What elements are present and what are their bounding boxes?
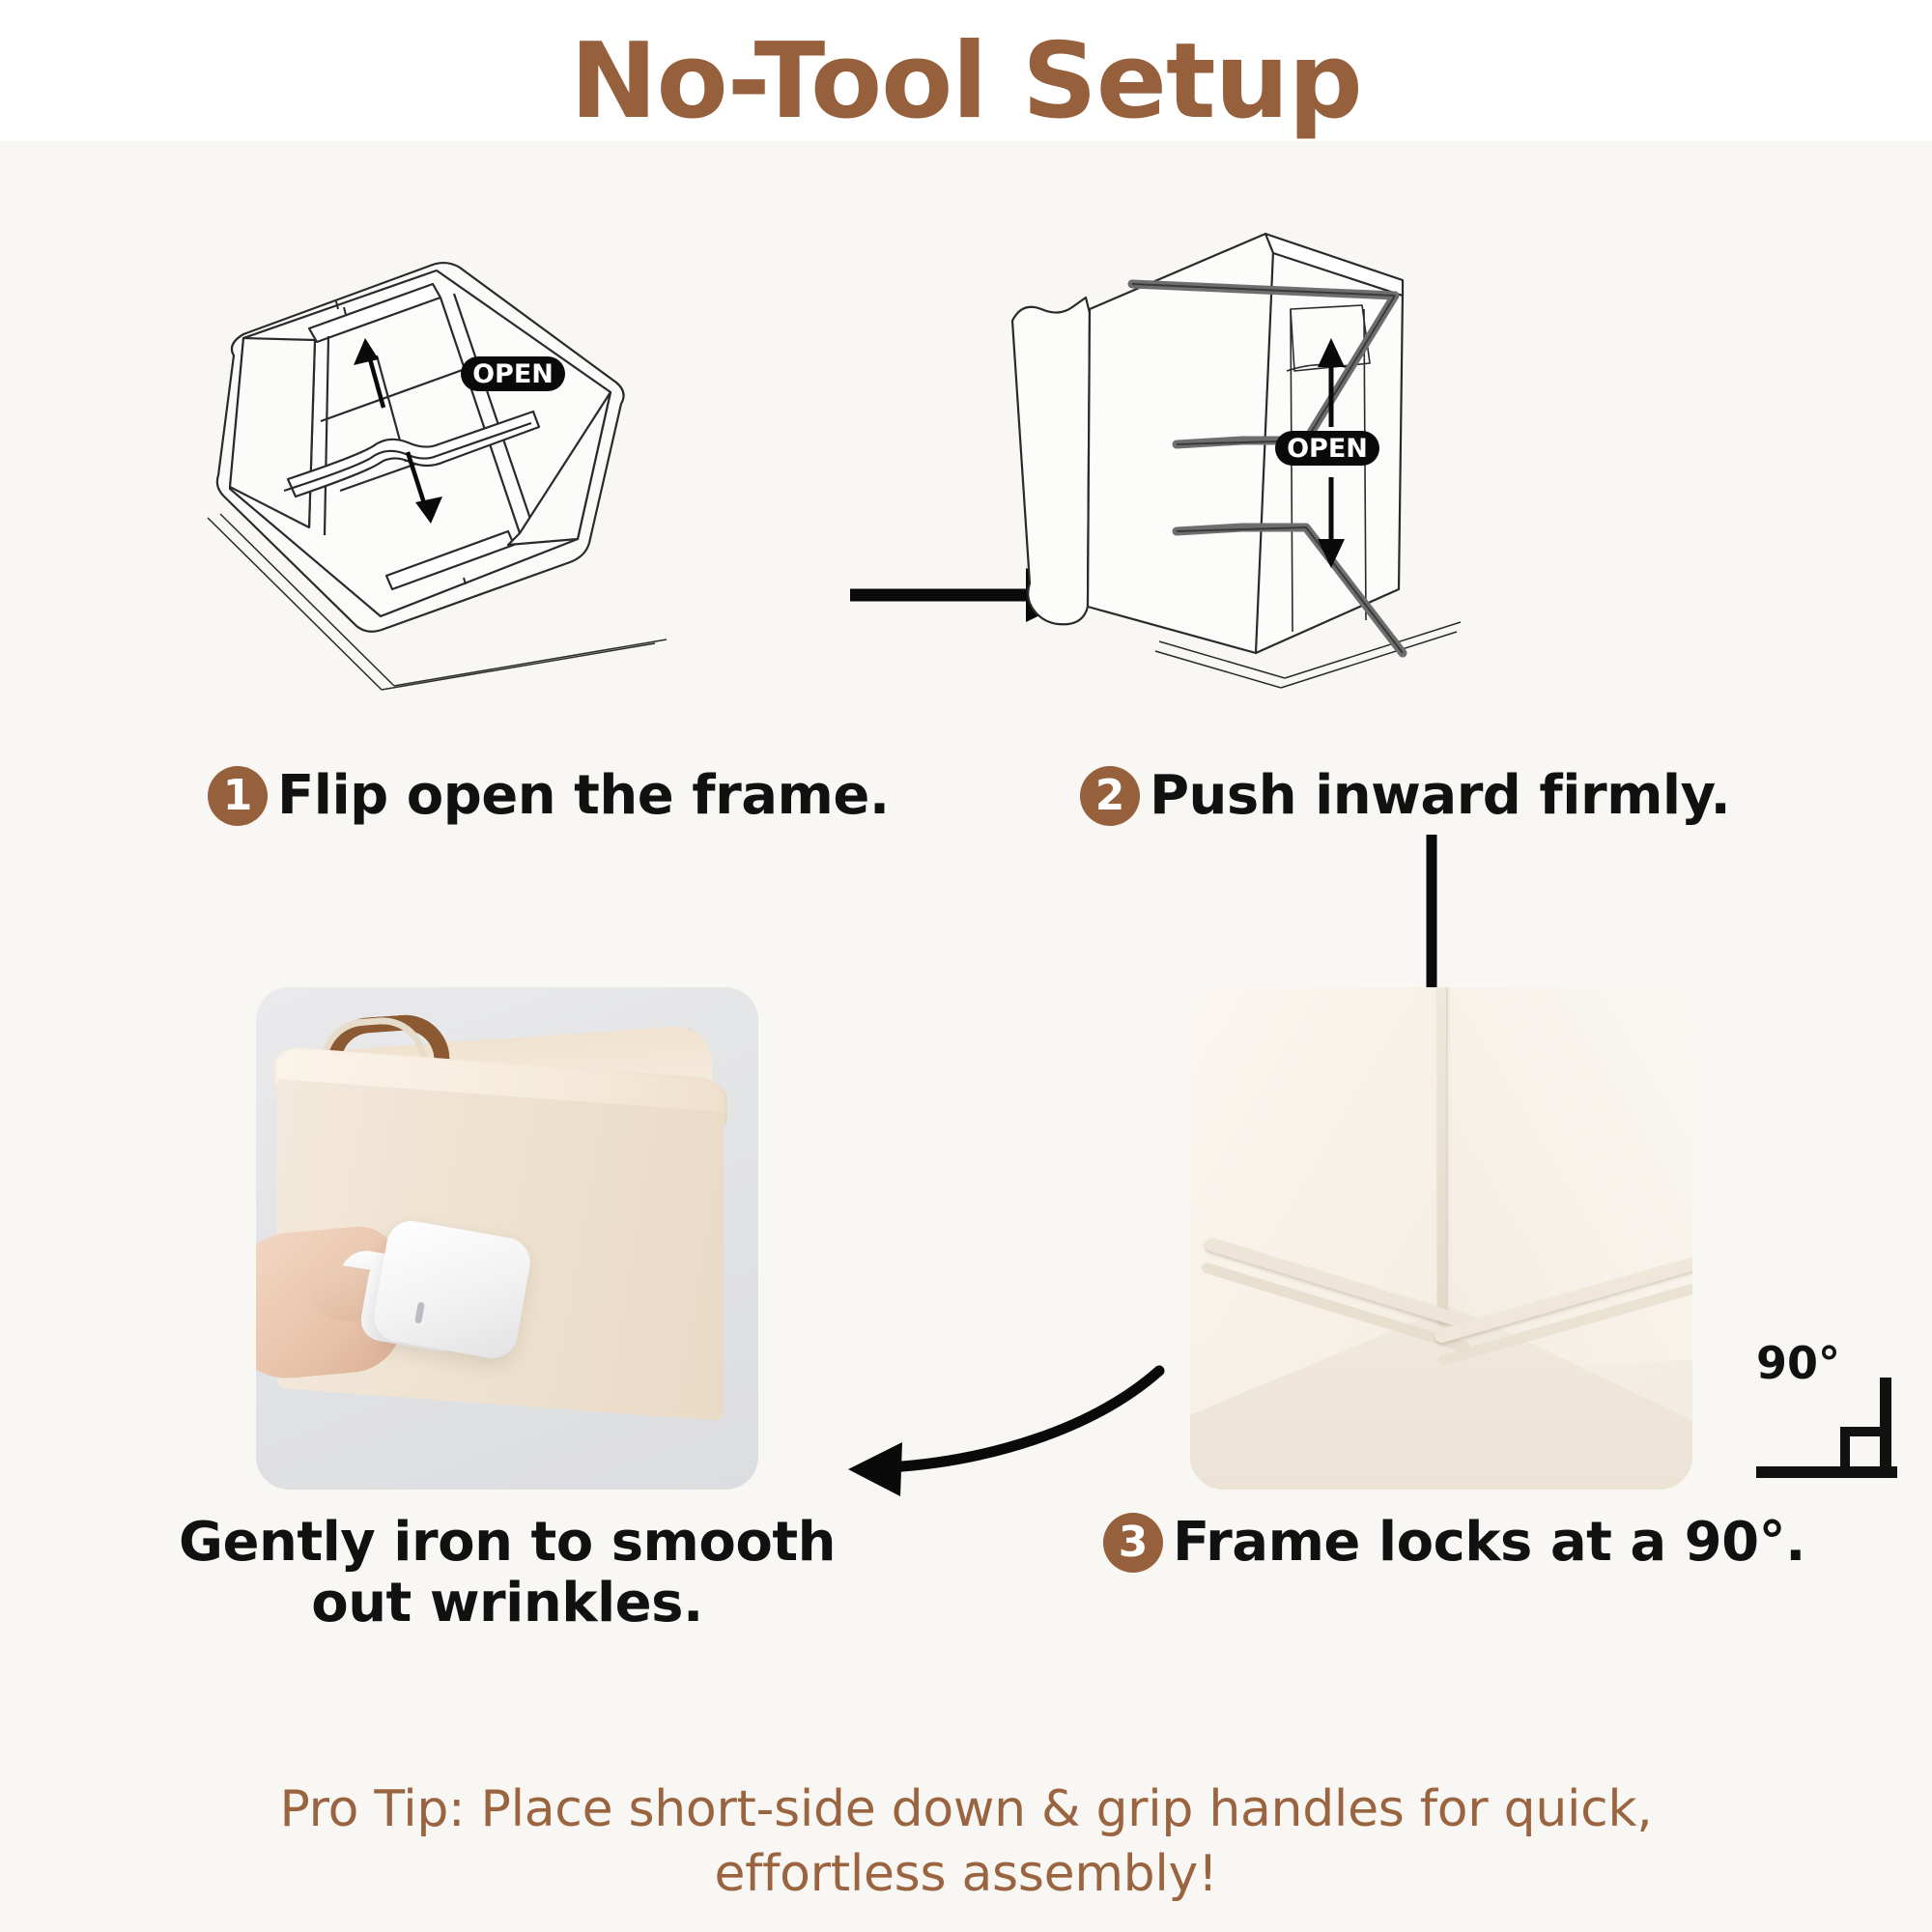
final-step-caption-line-2: out wrinkles. bbox=[126, 1574, 889, 1634]
step-2-caption-row: 2 Push inward firmly. bbox=[1080, 764, 1730, 827]
content-stage: OPEN bbox=[0, 141, 1932, 1932]
final-step-photo bbox=[256, 987, 758, 1490]
step-2-badge: 2 bbox=[1080, 766, 1140, 826]
step-2-illustration: OPEN bbox=[966, 216, 1468, 699]
fabric-panel-right bbox=[1449, 987, 1692, 1373]
final-step-caption: Gently iron to smooth out wrinkles. bbox=[126, 1513, 889, 1634]
step-1-caption-row: 1 Flip open the frame. bbox=[208, 764, 890, 827]
step-3-badge: 3 bbox=[1103, 1513, 1163, 1573]
final-step-caption-line-1: Gently iron to smooth bbox=[126, 1513, 889, 1574]
open-badge-1: OPEN bbox=[461, 356, 565, 391]
step-2-caption: Push inward firmly. bbox=[1150, 764, 1730, 827]
right-angle-icon bbox=[1756, 1378, 1911, 1498]
corner-seam bbox=[1437, 987, 1446, 1325]
svg-text:OPEN: OPEN bbox=[472, 359, 554, 389]
connector-curved-arrow-step3-final bbox=[773, 1353, 1179, 1527]
page-title: No-Tool Setup bbox=[0, 27, 1932, 136]
step-3-caption: Frame locks at a 90°. bbox=[1173, 1511, 1805, 1574]
pro-tip-line-1: Pro Tip: Place short-side down & grip ha… bbox=[116, 1777, 1816, 1842]
step-3-caption-row: 3 Frame locks at a 90°. bbox=[1103, 1511, 1805, 1574]
step-1-illustration: OPEN bbox=[174, 238, 676, 701]
step-1-caption: Flip open the frame. bbox=[277, 764, 890, 827]
step-1-badge: 1 bbox=[208, 766, 268, 826]
pro-tip: Pro Tip: Place short-side down & grip ha… bbox=[116, 1777, 1816, 1906]
step-3-photo bbox=[1190, 987, 1692, 1490]
pro-tip-line-2: effortless assembly! bbox=[116, 1842, 1816, 1907]
open-badge-2: OPEN bbox=[1275, 431, 1379, 466]
svg-text:OPEN: OPEN bbox=[1287, 434, 1368, 464]
steamer-head bbox=[370, 1217, 534, 1362]
